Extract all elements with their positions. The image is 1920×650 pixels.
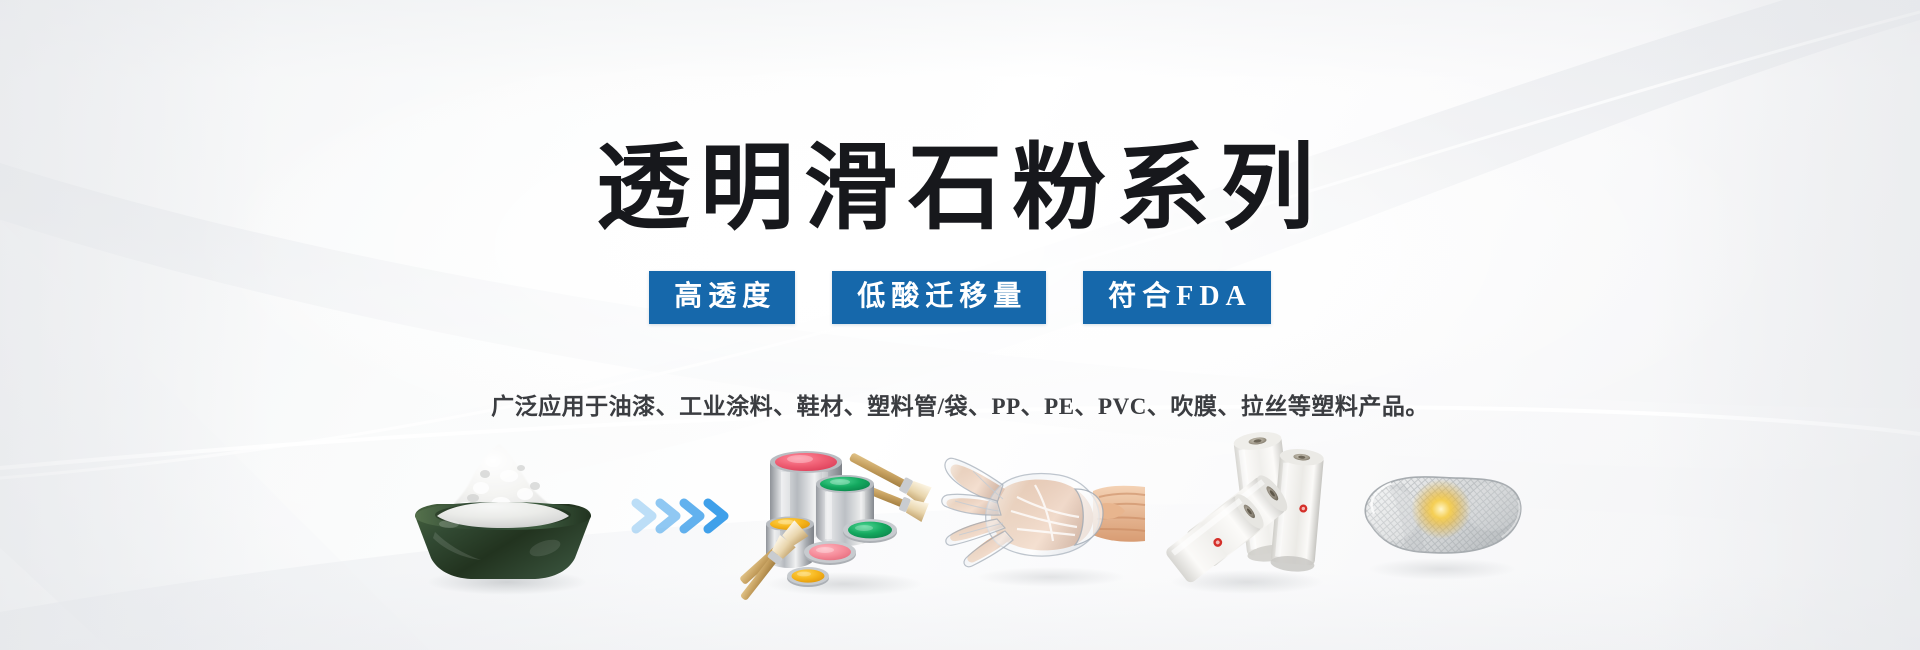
- shoe-sole-image: [1341, 428, 1537, 603]
- product-banner: 透明滑石粉系列 高透度 低酸迁移量 符合FDA 广泛应用于油漆、工业涂料、鞋材、…: [0, 0, 1920, 650]
- plastic-film-rolls-image: [1151, 428, 1341, 603]
- status-badge-transparency: 高透度: [649, 271, 795, 324]
- talc-powder-bowl-image: [383, 428, 623, 603]
- pe-glove-hand-image: [941, 428, 1151, 603]
- application-visual-strip: [0, 428, 1920, 603]
- feature-badges: 高透度 低酸迁移量 符合FDA: [0, 271, 1920, 324]
- banner-content: 透明滑石粉系列 高透度 低酸迁移量 符合FDA 广泛应用于油漆、工业涂料、鞋材、…: [0, 0, 1920, 650]
- application-description: 广泛应用于油漆、工业涂料、鞋材、塑料管/袋、PP、PE、PVC、吹膜、拉丝等塑料…: [0, 387, 1920, 421]
- status-badge-fda-compliant: 符合FDA: [1083, 271, 1271, 324]
- paint-cans-image: [741, 428, 941, 603]
- page-title: 透明滑石粉系列: [0, 139, 1920, 241]
- status-badge-low-acid-migration: 低酸迁移量: [832, 271, 1046, 324]
- process-arrows-icon: [623, 428, 741, 603]
